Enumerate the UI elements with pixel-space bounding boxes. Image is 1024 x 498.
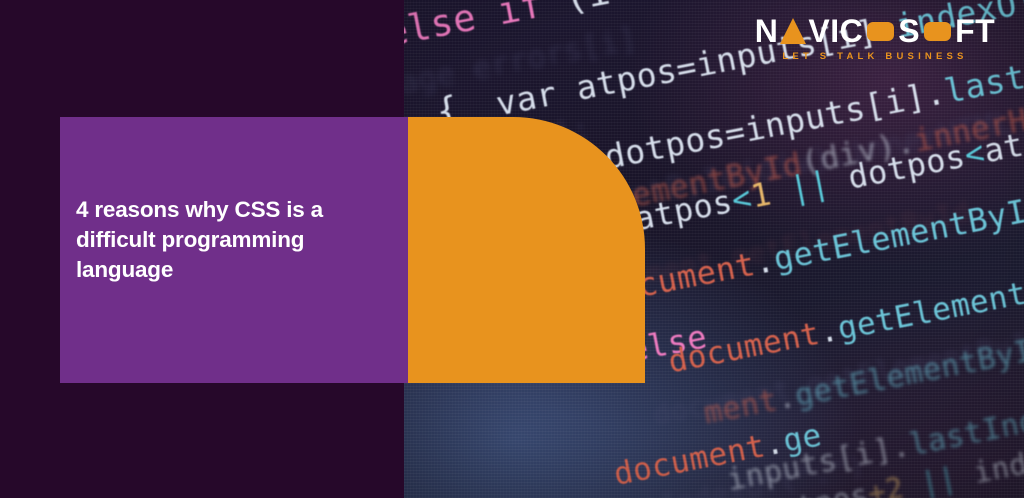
logo-letters-ft: FT — [955, 13, 995, 50]
logo-letters-vic: VIC — [808, 13, 863, 50]
banner-root: message errors[i] div divs[i]; getElemen… — [0, 0, 1024, 498]
logo-letter-o2-icon — [924, 22, 951, 41]
logo-letter-n: N — [755, 13, 779, 50]
logo-letter-o-icon — [867, 22, 894, 41]
logo-letter-a-icon — [780, 18, 806, 44]
logo-tagline: LET S TALK BUSINESS — [754, 51, 996, 62]
logo-letter-s: S — [898, 13, 920, 50]
page-title: 4 reasons why CSS is a difficult program… — [76, 195, 406, 285]
navicosoft-logo[interactable]: N VIC S FT LET S TALK BUSINESS — [754, 14, 996, 62]
headline-panel: 4 reasons why CSS is a difficult program… — [60, 117, 408, 383]
logo-wordmark: N VIC S FT — [754, 14, 996, 48]
